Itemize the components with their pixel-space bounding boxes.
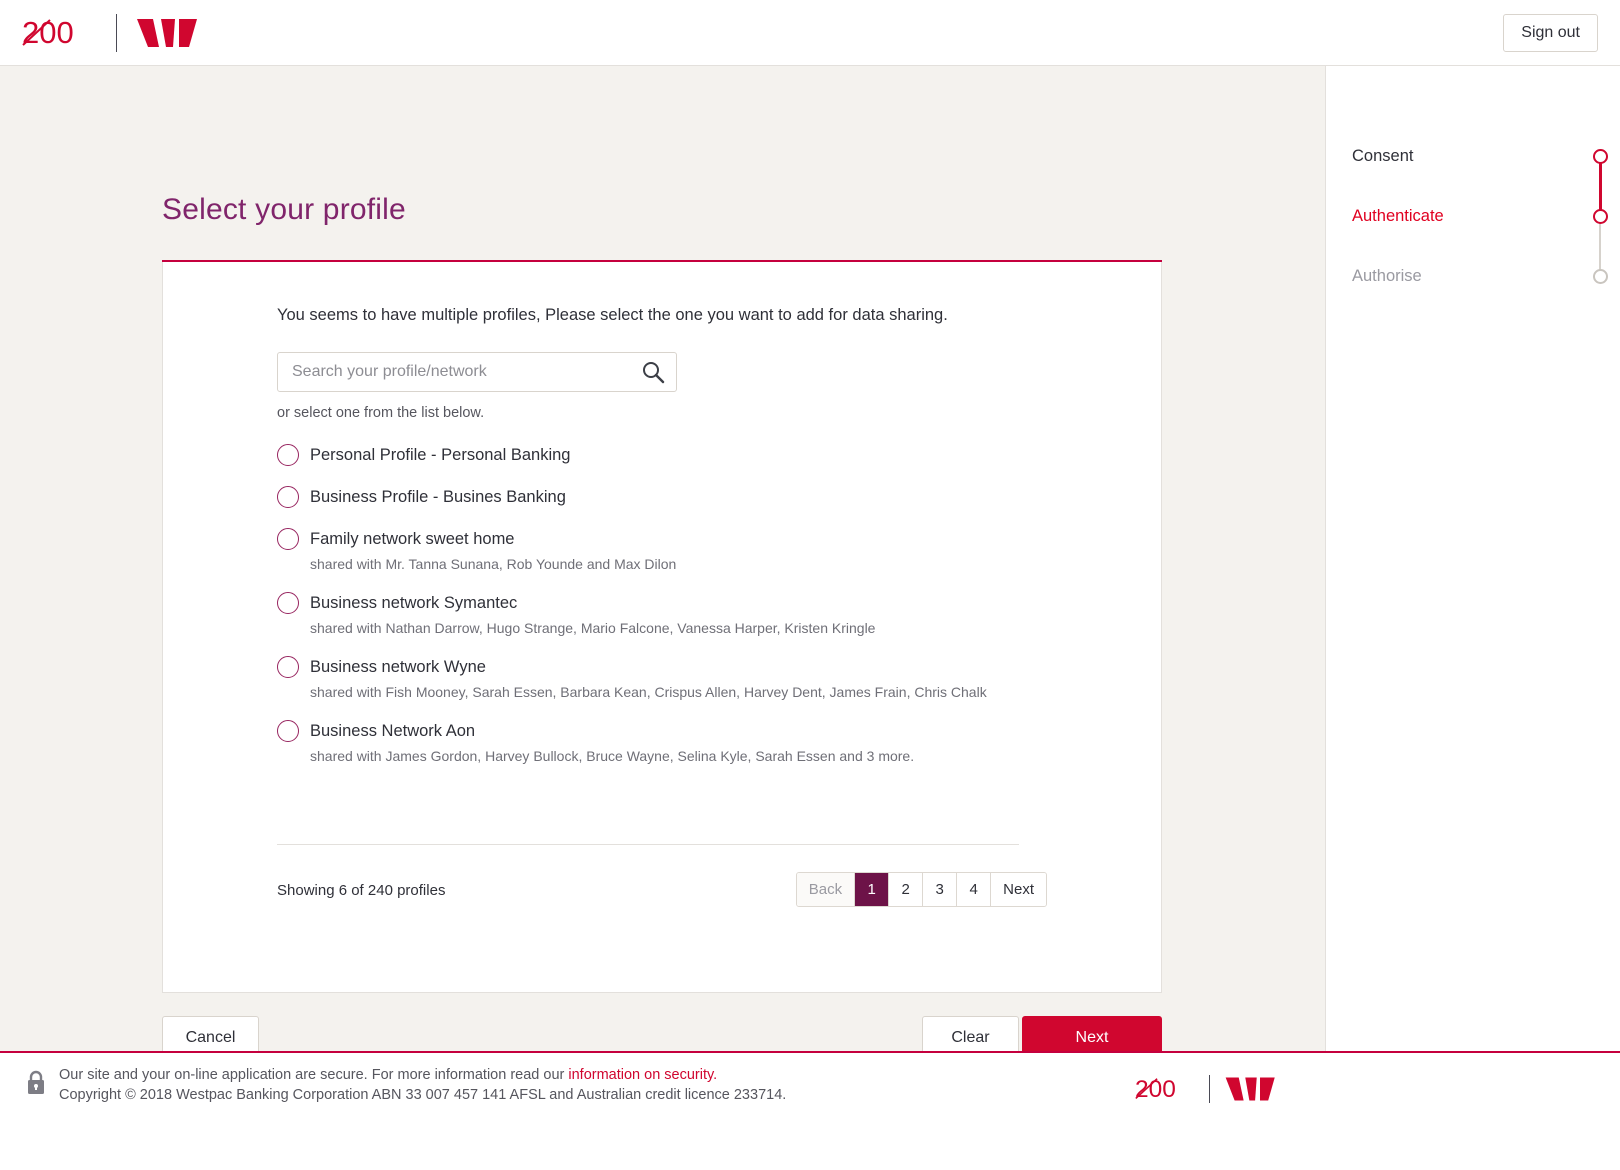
step-dot-authenticate <box>1593 209 1608 224</box>
step-dot-consent <box>1593 149 1608 164</box>
pagination-page-3[interactable]: 3 <box>923 873 957 906</box>
footer-brand-logo: 200 <box>1135 1075 1278 1103</box>
brand-divider <box>116 14 117 52</box>
list-item[interactable]: Business Profile - Busines Banking <box>277 486 1097 508</box>
footer-copyright: Copyright © 2018 Westpac Banking Corpora… <box>59 1087 786 1103</box>
profile-option-0[interactable]: Personal Profile - Personal Banking <box>277 444 1097 466</box>
pagination-next-button[interactable]: Next <box>991 873 1046 906</box>
profile-option-label: Business network Wyne <box>310 658 486 677</box>
step-label-authorise: Authorise <box>1352 267 1422 286</box>
list-divider <box>277 844 1019 845</box>
profile-option-label: Business network Symantec <box>310 594 517 613</box>
profile-shared-with: shared with Fish Mooney, Sarah Essen, Ba… <box>310 684 1097 700</box>
list-item[interactable]: Business network Wyne shared with Fish M… <box>277 656 1097 700</box>
search-icon[interactable] <box>641 360 665 384</box>
pagination-page-1[interactable]: 1 <box>855 873 889 906</box>
step-consent: Consent <box>1326 126 1620 186</box>
top-bar: 200 Sign out <box>0 0 1620 66</box>
information-on-security-link[interactable]: information on security. <box>568 1067 717 1083</box>
profile-option-4[interactable]: Business network Wyne <box>277 656 1097 678</box>
brand-logo: 200 <box>22 14 201 52</box>
showing-count-text: Showing 6 of 240 profiles <box>277 882 445 899</box>
profile-option-label: Personal Profile - Personal Banking <box>310 446 570 465</box>
main-column: Select your profile You seems to have mu… <box>0 66 1325 1051</box>
profile-option-label: Family network sweet home <box>310 530 515 549</box>
step-authorise: Authorise <box>1326 246 1620 306</box>
radio-button-icon[interactable] <box>277 592 299 614</box>
list-item[interactable]: Family network sweet home shared with Mr… <box>277 528 1097 572</box>
body-wrapper: Select your profile You seems to have mu… <box>0 66 1620 1051</box>
footer-security-text: Our site and your on-line application ar… <box>59 1067 717 1083</box>
step-authenticate: Authenticate <box>1326 186 1620 246</box>
page-title: Select your profile <box>162 193 406 227</box>
app-root: 200 Sign out Select your profile You see… <box>0 0 1620 1170</box>
radio-button-icon[interactable] <box>277 656 299 678</box>
profile-option-label: Business Profile - Busines Banking <box>310 488 566 507</box>
profile-card: You seems to have multiple profiles, Ple… <box>162 262 1162 993</box>
list-item[interactable]: Business network Symantec shared with Na… <box>277 592 1097 636</box>
profile-option-2[interactable]: Family network sweet home <box>277 528 1097 550</box>
side-column: Consent Authenticate Authorise <box>1325 66 1620 1051</box>
profile-shared-with: shared with Nathan Darrow, Hugo Strange,… <box>310 620 1097 636</box>
footer-security-text-plain: Our site and your on-line application ar… <box>59 1067 568 1083</box>
step-label-authenticate: Authenticate <box>1352 207 1444 226</box>
list-item[interactable]: Personal Profile - Personal Banking <box>277 444 1097 466</box>
pagination-back-button[interactable]: Back <box>797 873 855 906</box>
radio-button-icon[interactable] <box>277 720 299 742</box>
radio-button-icon[interactable] <box>277 444 299 466</box>
step-label-consent: Consent <box>1352 147 1413 166</box>
profile-shared-with: shared with James Gordon, Harvey Bullock… <box>310 748 1097 764</box>
sign-out-button[interactable]: Sign out <box>1503 14 1598 52</box>
search-input[interactable] <box>277 352 677 392</box>
pagination: Back 1 2 3 4 Next <box>796 872 1047 907</box>
profile-option-5[interactable]: Business Network Aon <box>277 720 1097 742</box>
search-field-wrapper <box>277 352 677 392</box>
westpac-w-icon <box>135 16 201 50</box>
profile-option-3[interactable]: Business network Symantec <box>277 592 1097 614</box>
list-hint-text: or select one from the list below. <box>277 405 484 421</box>
progress-stepper: Consent Authenticate Authorise <box>1326 126 1620 306</box>
list-item[interactable]: Business Network Aon shared with James G… <box>277 720 1097 764</box>
profile-shared-with: shared with Mr. Tanna Sunana, Rob Younde… <box>310 556 1097 572</box>
footer-logo-200-icon: 200 <box>1135 1075 1195 1103</box>
profile-option-1[interactable]: Business Profile - Busines Banking <box>277 486 1097 508</box>
profile-radio-list: Personal Profile - Personal Banking Busi… <box>277 444 1097 764</box>
profile-option-label: Business Network Aon <box>310 722 475 741</box>
pagination-page-4[interactable]: 4 <box>957 873 991 906</box>
lock-icon <box>25 1070 47 1096</box>
pagination-page-2[interactable]: 2 <box>889 873 923 906</box>
step-dot-authorise <box>1593 269 1608 284</box>
footer-westpac-w-icon <box>1224 1075 1278 1103</box>
radio-button-icon[interactable] <box>277 528 299 550</box>
radio-button-icon[interactable] <box>277 486 299 508</box>
page-footer: Our site and your on-line application ar… <box>0 1051 1620 1170</box>
footer-brand-divider <box>1209 1075 1210 1103</box>
logo-200-icon: 200 <box>22 16 98 50</box>
intro-text: You seems to have multiple profiles, Ple… <box>277 306 948 325</box>
